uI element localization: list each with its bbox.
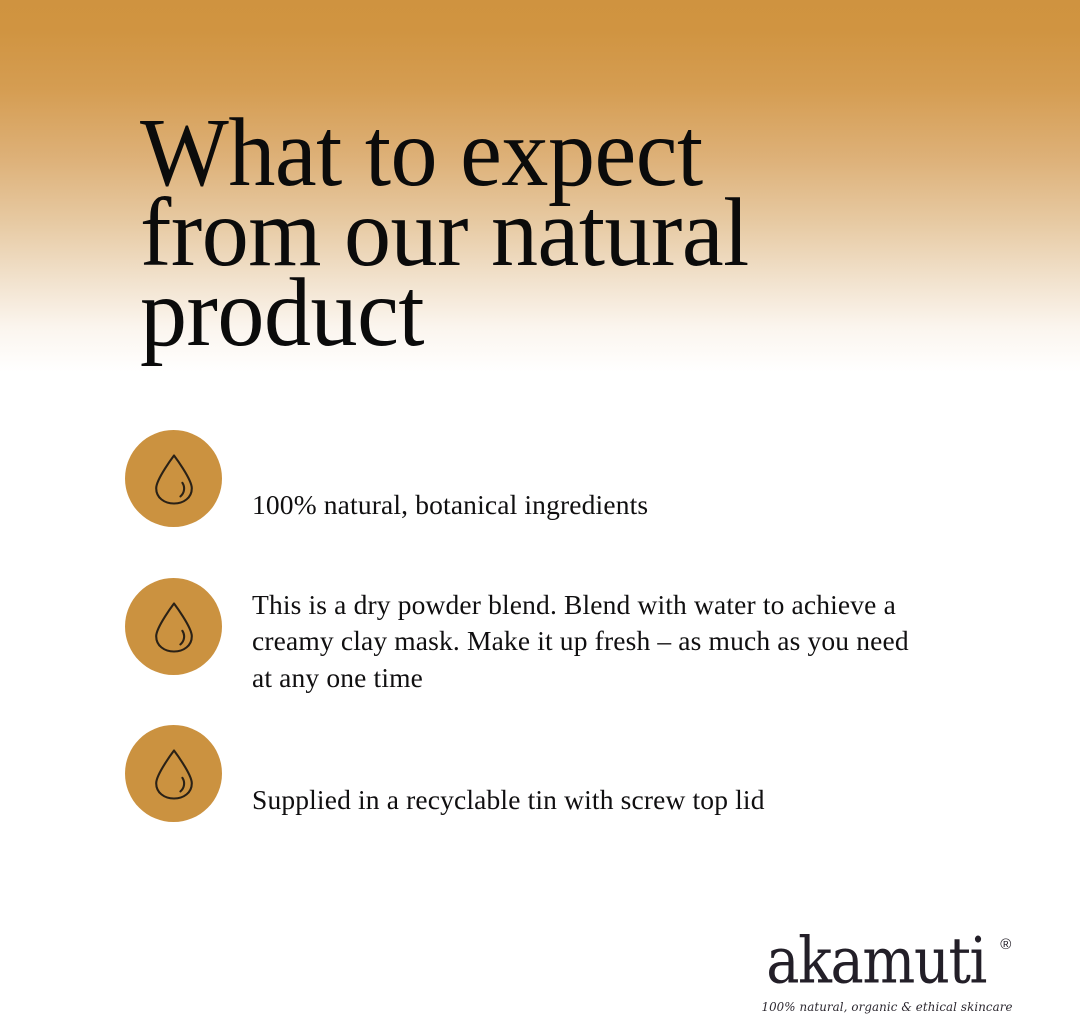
- water-droplet-icon: [125, 725, 222, 822]
- list-item-label: 100% natural, botanical ingredients: [252, 487, 912, 524]
- registered-trademark-icon: ®: [1000, 937, 1011, 952]
- page-title: What to expect from our natural product: [140, 113, 945, 353]
- brand-wordmark-wrapper: akamuti ®: [758, 933, 994, 993]
- brand-wordmark: akamuti: [766, 929, 986, 993]
- product-info-poster: What to expect from our natural product …: [0, 0, 1080, 1022]
- water-droplet-icon: [125, 430, 222, 527]
- list-item-label: Supplied in a recyclable tin with screw …: [252, 782, 912, 819]
- brand-tagline: 100% natural, organic & ethical skincare: [761, 1000, 984, 1014]
- water-droplet-icon: [125, 578, 222, 675]
- brand-logo: akamuti ® 100% natural, organic & ethica…: [758, 933, 988, 1014]
- list-item-label: This is a dry powder blend. Blend with w…: [252, 587, 912, 697]
